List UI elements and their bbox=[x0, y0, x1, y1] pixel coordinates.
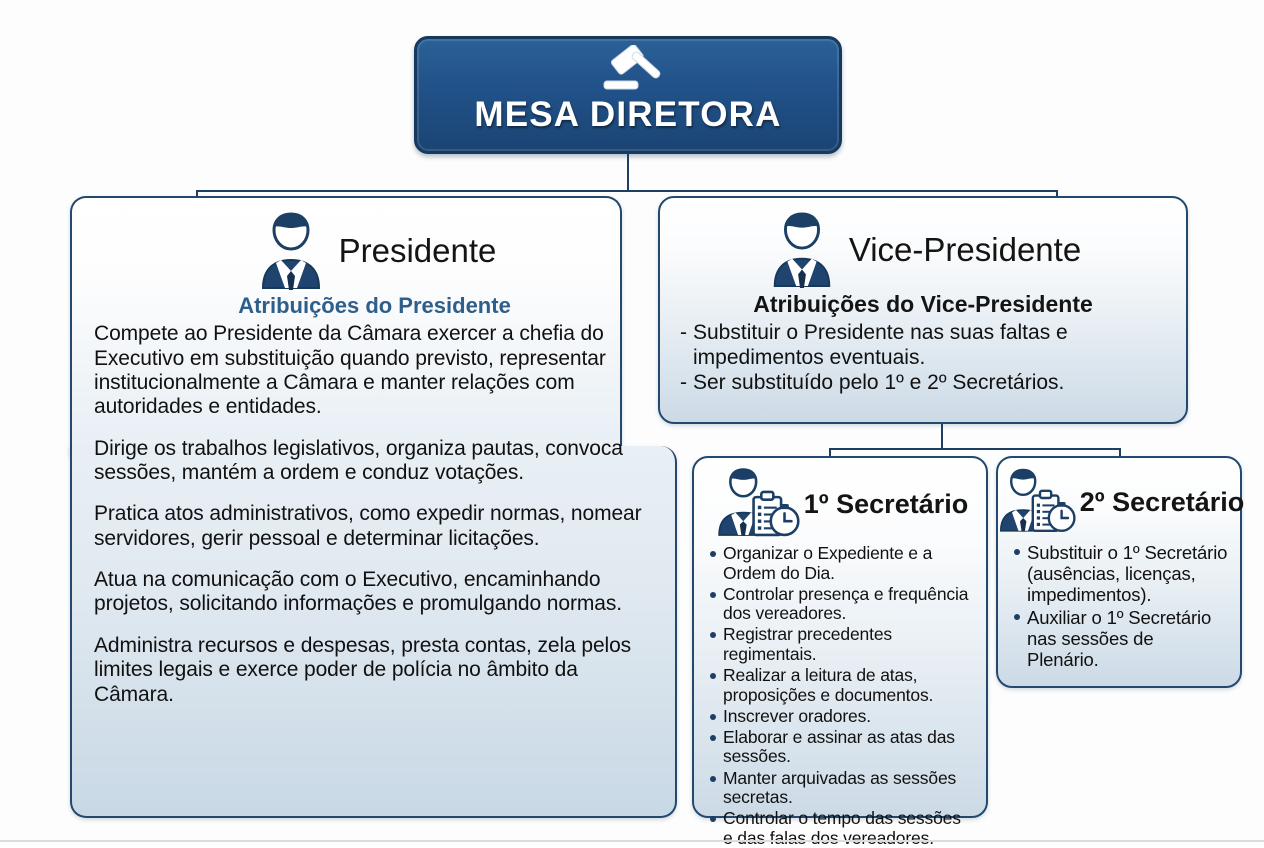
presidente-paragraph: Compete ao Presidente da Câmara exercer … bbox=[94, 322, 655, 419]
list-item: Controlar presença e frequência dos vere… bbox=[708, 585, 974, 624]
vice-presidente-header: Vice-Presidente bbox=[678, 210, 1168, 290]
segundo-secretario-list: Substituir o 1º Secretário (ausências, l… bbox=[1012, 542, 1228, 670]
businessman-avatar-icon bbox=[253, 210, 329, 292]
secretary-clipboard-stopwatch-icon bbox=[996, 466, 1076, 538]
connector-vice-stem bbox=[941, 424, 943, 450]
connector-header-stem bbox=[627, 154, 629, 190]
presidente-paragraph: Atua na comunicação com o Executivo, enc… bbox=[94, 568, 655, 617]
list-item: Auxiliar o 1º Secretário nas sessões de … bbox=[1012, 607, 1228, 670]
node-vice-presidente[interactable]: Vice-Presidente Atribuições do Vice-Pres… bbox=[658, 196, 1188, 424]
list-item: Organizar o Expediente e a Ordem do Dia. bbox=[708, 544, 974, 583]
presidente-paragraph: Administra recursos e despesas, presta c… bbox=[94, 634, 655, 707]
list-item: Ser substituído pelo 1º e 2º Secretários… bbox=[678, 371, 1168, 395]
node-primeiro-secretario[interactable]: 1º Secretário Organizar o Expediente e a… bbox=[692, 456, 988, 818]
connector-level2-bar bbox=[196, 190, 1058, 192]
primeiro-secretario-header: 1º Secretário bbox=[708, 466, 974, 542]
segundo-secretario-header: 2º Secretário bbox=[1012, 466, 1228, 538]
node-segundo-secretario[interactable]: 2º Secretário Substituir o 1º Secretário… bbox=[996, 456, 1242, 688]
presidente-subheading: Atribuições do Presidente bbox=[94, 294, 655, 318]
list-item: Controlar o tempo das sessões e das fala… bbox=[708, 809, 974, 848]
org-chart-canvas: MESA DIRETORA Presidente Atribuições do … bbox=[0, 0, 1264, 842]
secretary-clipboard-stopwatch-icon bbox=[714, 466, 800, 542]
list-item: Inscrever oradores. bbox=[708, 707, 974, 727]
node-mesa-diretora[interactable]: MESA DIRETORA bbox=[414, 36, 842, 154]
businessman-avatar-icon bbox=[765, 210, 839, 290]
gavel-icon bbox=[582, 45, 674, 95]
header-title: MESA DIRETORA bbox=[474, 97, 781, 132]
primeiro-secretario-title: 1º Secretário bbox=[804, 490, 968, 518]
list-item: Manter arquivadas as sessões secretas. bbox=[708, 769, 974, 808]
presidente-title: Presidente bbox=[339, 234, 497, 269]
presidente-paragraph: Dirige os trabalhos legislativos, organi… bbox=[94, 437, 655, 486]
vice-presidente-list: Substituir o Presidente nas suas faltas … bbox=[678, 321, 1168, 395]
list-item: Substituir o Presidente nas suas faltas … bbox=[678, 321, 1168, 370]
node-presidente[interactable]: Presidente Atribuições do Presidente Com… bbox=[70, 196, 677, 818]
vice-presidente-title: Vice-Presidente bbox=[849, 233, 1081, 268]
list-item: Elaborar e assinar as atas das sessões. bbox=[708, 728, 974, 767]
segundo-secretario-title: 2º Secretário bbox=[1080, 488, 1244, 516]
primeiro-secretario-list: Organizar o Expediente e a Ordem do Dia.… bbox=[708, 544, 974, 848]
list-item: Substituir o 1º Secretário (ausências, l… bbox=[1012, 542, 1228, 605]
list-item: Realizar a leitura de atas, proposições … bbox=[708, 666, 974, 705]
vice-presidente-subheading: Atribuições do Vice-Presidente bbox=[678, 292, 1168, 317]
list-item: Registrar precedentes regimentais. bbox=[708, 625, 974, 664]
presidente-paragraph: Pratica atos administrativos, como exped… bbox=[94, 502, 655, 551]
connector-level3-bar bbox=[829, 448, 1121, 450]
presidente-header: Presidente bbox=[94, 210, 655, 292]
